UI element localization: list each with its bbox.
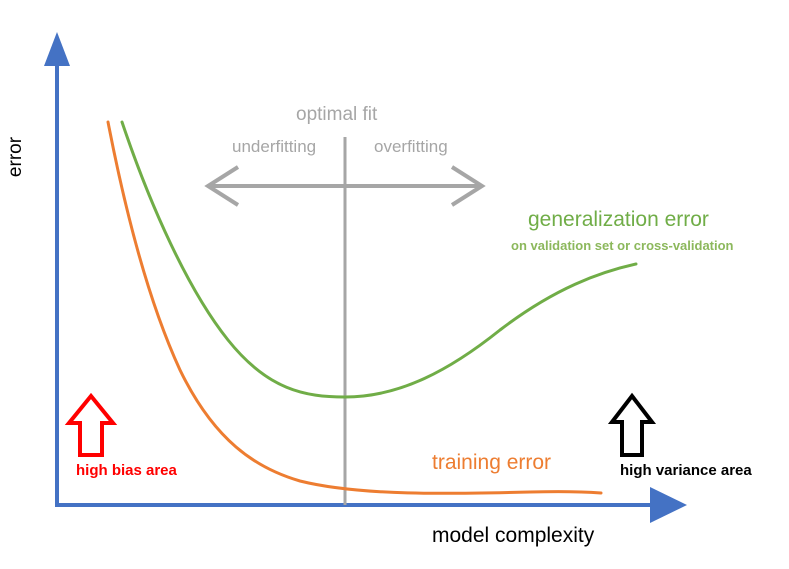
generalization-error-curve [122, 122, 636, 397]
y-axis-label: error [6, 132, 26, 182]
training-error-label: training error [432, 452, 551, 474]
high-bias-up-arrow-icon [69, 396, 113, 455]
x-axis-label: model complexity [432, 525, 594, 547]
optimal-fit-label: optimal fit [296, 105, 377, 125]
training-error-curve [108, 122, 601, 493]
y-axis [44, 32, 70, 507]
underfitting-label: underfitting [232, 138, 316, 156]
high-variance-up-arrow-icon [612, 396, 652, 455]
high-variance-area-label: high variance area [620, 463, 752, 479]
diagram-svg [0, 0, 789, 569]
overfitting-label: overfitting [374, 138, 448, 156]
high-bias-area-label: high bias area [76, 463, 177, 479]
diagram-canvas: error model complexity optimal fit under… [0, 0, 789, 569]
generalization-error-label: generalization error [528, 209, 709, 231]
generalization-error-sublabel: on validation set or cross-validation [511, 239, 734, 253]
